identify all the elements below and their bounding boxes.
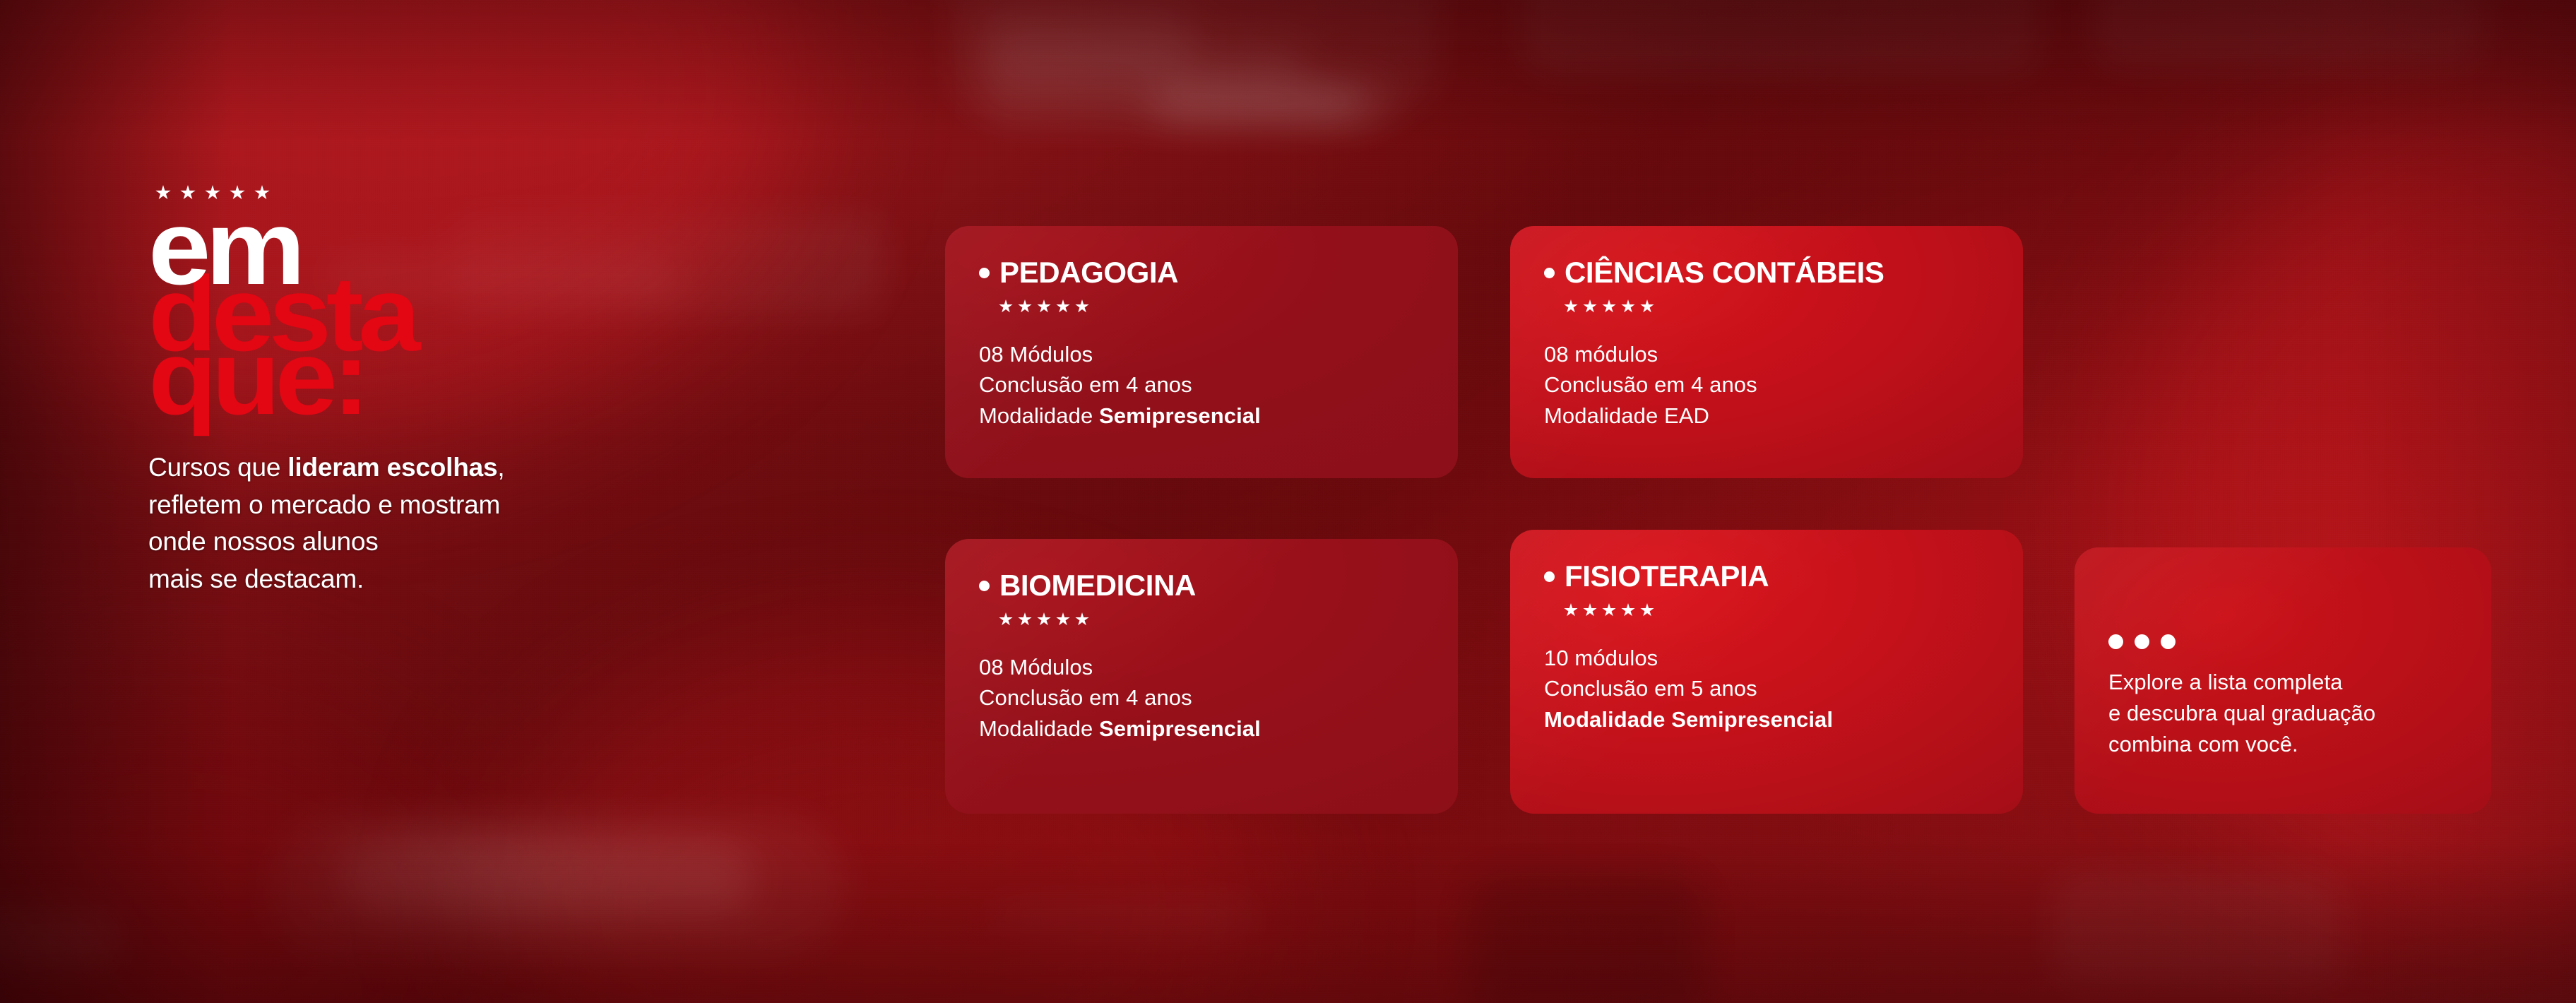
course-card-biomedicina[interactable]: BIOMEDICINA 08 Módulos Conclusão em 4 an… bbox=[945, 539, 1458, 814]
course-duration: Conclusão em 4 anos bbox=[979, 682, 1424, 713]
lede-text-1: Cursos que bbox=[148, 453, 287, 482]
three-dots-icon bbox=[2108, 547, 2457, 649]
star-icon bbox=[1018, 299, 1032, 314]
course-meta: 08 Módulos Conclusão em 4 anos Modalidad… bbox=[979, 339, 1424, 431]
cta-line-2: e descubra qual graduação bbox=[2108, 698, 2457, 729]
course-meta: 10 módulos Conclusão em 5 anos Modalidad… bbox=[1544, 643, 1989, 735]
course-title-row: PEDAGOGIA bbox=[979, 256, 1424, 290]
course-star-rating bbox=[1564, 603, 1989, 617]
lede-line-3: onde nossos alunos bbox=[148, 527, 379, 556]
modality-label: Modalidade bbox=[979, 403, 1099, 428]
lede-line-2: refletem o mercado e mostram bbox=[148, 490, 500, 519]
star-icon bbox=[1621, 299, 1635, 314]
star-icon bbox=[1075, 612, 1089, 627]
course-title-row: FISIOTERAPIA bbox=[1544, 559, 1989, 593]
course-title-row: BIOMEDICINA bbox=[979, 569, 1424, 603]
course-modules: 08 módulos bbox=[1544, 339, 1989, 369]
modality-label: Modalidade EAD bbox=[1544, 403, 1709, 428]
course-modality: Modalidade Semipresencial bbox=[979, 400, 1424, 431]
star-icon bbox=[1056, 299, 1070, 314]
modality-value: Semipresencial bbox=[1099, 716, 1261, 741]
bullet-dot-icon bbox=[979, 581, 990, 591]
headline-lede: Cursos que lideram escolhas, refletem o … bbox=[148, 449, 897, 598]
modality-value: Semipresencial bbox=[1099, 403, 1261, 428]
star-icon bbox=[1621, 603, 1635, 617]
headline-block: em desta que: Cursos que lideram escolha… bbox=[148, 185, 897, 598]
course-title: PEDAGOGIA bbox=[999, 256, 1178, 290]
course-meta: 08 Módulos Conclusão em 4 anos Modalidad… bbox=[979, 652, 1424, 744]
bullet-dot-icon bbox=[979, 268, 990, 278]
star-icon bbox=[1640, 299, 1654, 314]
star-icon bbox=[1018, 612, 1032, 627]
star-icon bbox=[1037, 612, 1051, 627]
course-title: BIOMEDICINA bbox=[999, 569, 1196, 603]
star-icon bbox=[1564, 299, 1578, 314]
course-modules: 08 Módulos bbox=[979, 652, 1424, 682]
lede-emphasis: lideram escolhas bbox=[287, 453, 497, 482]
course-title: FISIOTERAPIA bbox=[1565, 559, 1769, 593]
promo-banner: em desta que: Cursos que lideram escolha… bbox=[0, 0, 2576, 1003]
course-title-row: CIÊNCIAS CONTÁBEIS bbox=[1544, 256, 1989, 290]
course-title: CIÊNCIAS CONTÁBEIS bbox=[1565, 256, 1884, 290]
course-card-pedagogia[interactable]: PEDAGOGIA 08 Módulos Conclusão em 4 anos… bbox=[945, 226, 1458, 478]
course-duration: Conclusão em 4 anos bbox=[1544, 369, 1989, 400]
glow-bottom-left bbox=[0, 692, 494, 1003]
cta-line-3: combina com você. bbox=[2108, 729, 2457, 760]
star-icon bbox=[1583, 299, 1597, 314]
star-icon bbox=[1056, 612, 1070, 627]
star-icon bbox=[1640, 603, 1654, 617]
cta-line-1: Explore a lista completa bbox=[2108, 667, 2457, 698]
dot-icon bbox=[2135, 634, 2149, 649]
lede-text-2: , bbox=[497, 453, 504, 482]
course-modality: Modalidade Semipresencial bbox=[979, 713, 1424, 744]
explore-more-text: Explore a lista completa e descubra qual… bbox=[2108, 667, 2457, 760]
bullet-dot-icon bbox=[1544, 268, 1555, 278]
course-meta: 08 módulos Conclusão em 4 anos Modalidad… bbox=[1544, 339, 1989, 431]
course-modality: Modalidade Semipresencial bbox=[1544, 704, 1989, 735]
course-modules: 08 Módulos bbox=[979, 339, 1424, 369]
star-icon bbox=[1564, 603, 1578, 617]
star-icon bbox=[1583, 603, 1597, 617]
star-icon bbox=[999, 299, 1013, 314]
explore-more-card[interactable]: Explore a lista completa e descubra qual… bbox=[2075, 547, 2491, 814]
star-icon bbox=[1602, 603, 1616, 617]
course-modules: 10 módulos bbox=[1544, 643, 1989, 673]
star-icon bbox=[999, 612, 1013, 627]
lede-line-4: mais se destacam. bbox=[148, 564, 364, 593]
course-star-rating bbox=[999, 612, 1424, 627]
course-card-ciencias-contabeis[interactable]: CIÊNCIAS CONTÁBEIS 08 módulos Conclusão … bbox=[1510, 226, 2023, 478]
course-star-rating bbox=[1564, 299, 1989, 314]
modality-label: Modalidade bbox=[979, 716, 1099, 741]
star-icon bbox=[1037, 299, 1051, 314]
dot-icon bbox=[2161, 634, 2176, 649]
headline-line-1: em bbox=[148, 205, 942, 290]
star-icon bbox=[1602, 299, 1616, 314]
course-star-rating bbox=[999, 299, 1424, 314]
bullet-dot-icon bbox=[1544, 571, 1555, 582]
dot-icon bbox=[2108, 634, 2123, 649]
course-duration: Conclusão em 4 anos bbox=[979, 369, 1424, 400]
course-card-fisioterapia[interactable]: FISIOTERAPIA 10 módulos Conclusão em 5 a… bbox=[1510, 530, 2023, 814]
course-modality: Modalidade EAD bbox=[1544, 400, 1989, 431]
star-icon bbox=[1075, 299, 1089, 314]
course-duration: Conclusão em 5 anos bbox=[1544, 673, 1989, 704]
